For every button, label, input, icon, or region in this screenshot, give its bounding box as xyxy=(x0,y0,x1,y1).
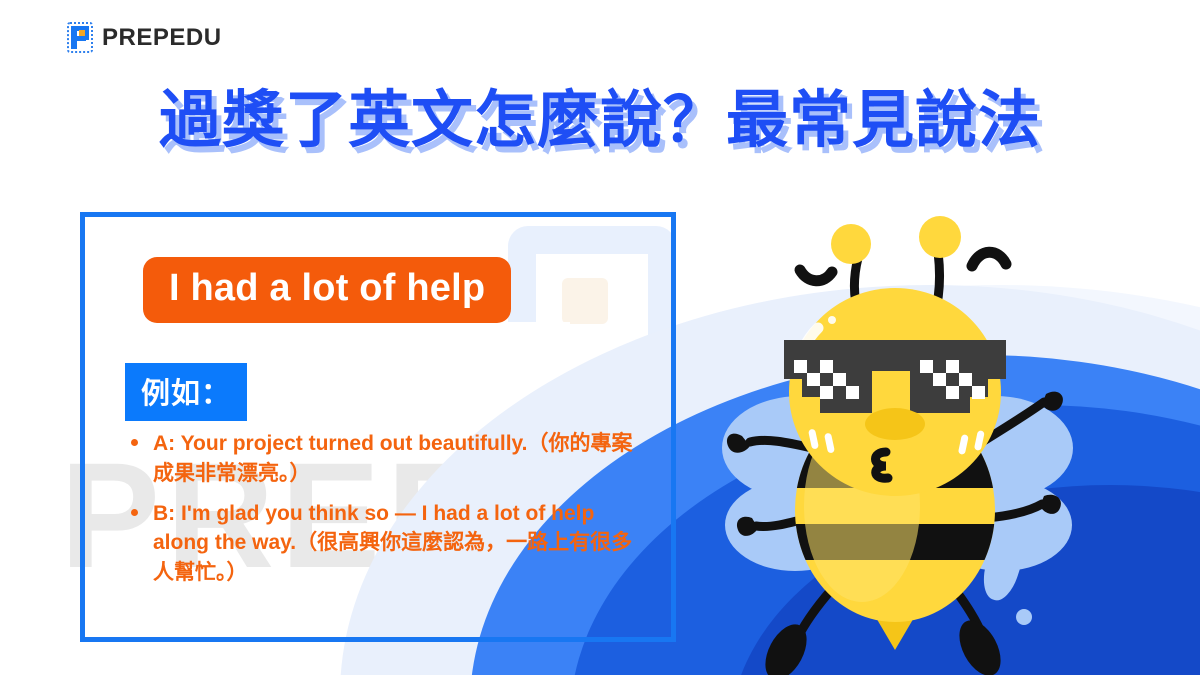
logo-p-arm-bottom xyxy=(77,36,86,41)
hand-upper-right xyxy=(1042,392,1063,411)
list-item: A: Your project turned out beautifully.（… xyxy=(127,429,647,489)
example-label: 例如： xyxy=(125,363,247,421)
list-item: B: I'm glad you think so — I had a lot o… xyxy=(127,499,647,588)
content-card: I had a lot of help 例如： A: Your project … xyxy=(80,212,676,642)
bee-nose xyxy=(865,408,925,440)
brand-name: PREPEDU xyxy=(102,24,222,52)
phrase-badge: I had a lot of help xyxy=(143,257,511,323)
eyebrow-left xyxy=(800,270,832,281)
head-sparkle xyxy=(828,316,836,324)
logo-p-glyph xyxy=(71,26,89,49)
page-title: 過獎了英文怎麼說？最常見說法 xyxy=(0,84,1200,158)
logo-orange-square xyxy=(79,30,85,36)
prepedu-logo-icon xyxy=(67,22,93,53)
antenna-ball-right xyxy=(919,216,961,258)
example-list: A: Your project turned out beautifully.（… xyxy=(127,429,647,598)
antenna-ball-left xyxy=(831,224,871,264)
bee-mascot xyxy=(690,180,1110,675)
eyebrow-right xyxy=(972,252,1006,266)
brand-logo[interactable]: PREPEDU xyxy=(67,22,222,53)
